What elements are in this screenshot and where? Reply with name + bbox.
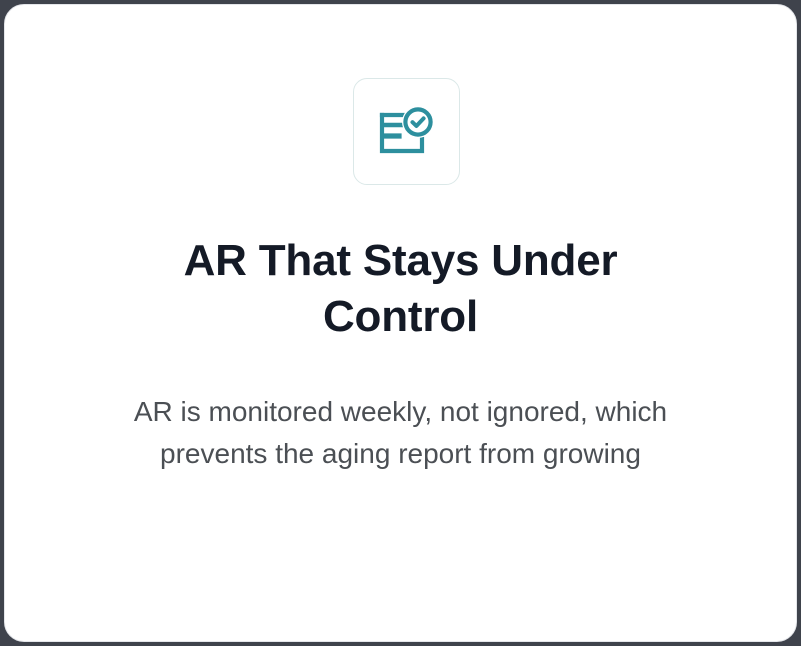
icon-tile [353,78,460,185]
feature-card: AR That Stays Under Control AR is monito… [4,4,797,642]
invoice-verified-icon [378,107,436,157]
page-title: AR That Stays Under Control [141,233,661,345]
description-text: AR is monitored weekly, not ignored, whi… [111,391,691,475]
